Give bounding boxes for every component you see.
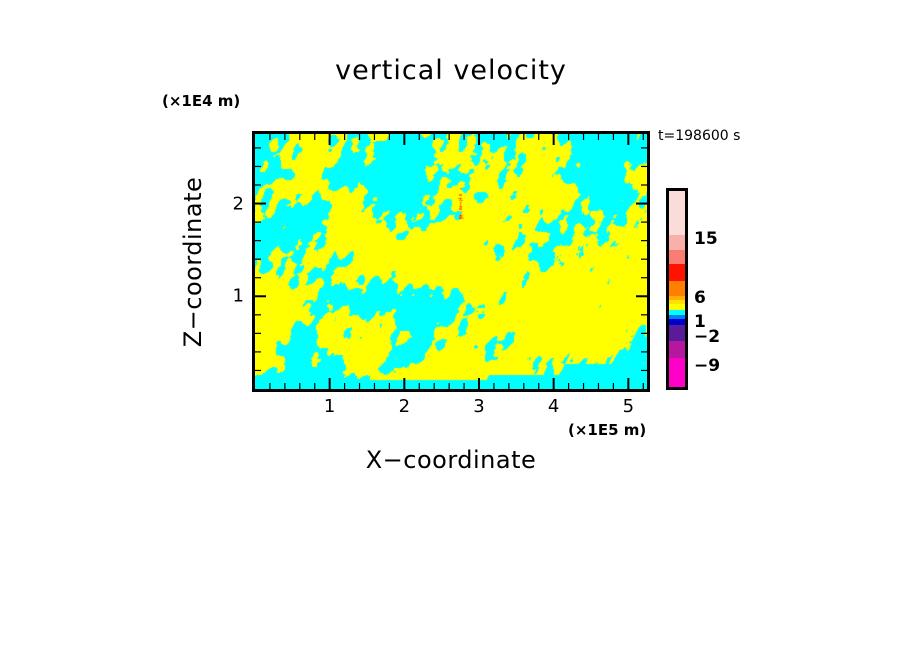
colorbar-label: −9 xyxy=(694,356,720,376)
x-tick-label: 4 xyxy=(548,396,559,417)
page-title: vertical velocity xyxy=(252,55,650,86)
colorbar-band xyxy=(669,341,685,358)
colorbar-label: 15 xyxy=(694,229,718,249)
x-tick-label: 3 xyxy=(473,396,484,417)
figure-canvas: vertical velocity (×1E4 m) t=198600 s 12… xyxy=(0,0,904,654)
colorbar-band xyxy=(669,325,685,342)
x-tick-label: 1 xyxy=(324,396,335,417)
colorbar-band xyxy=(669,358,685,387)
colorbar-band xyxy=(669,250,685,265)
time-annotation: t=198600 s xyxy=(658,128,740,144)
y-axis-unit-label: (×1E4 m) xyxy=(162,92,240,110)
vertical-velocity-field xyxy=(255,134,647,389)
x-tick-label: 5 xyxy=(623,396,634,417)
colorbar-band xyxy=(669,235,685,250)
y-tick-label: 2 xyxy=(233,193,244,214)
x-axis-unit-label: (×1E5 m) xyxy=(568,421,646,439)
colorbar-band xyxy=(669,281,685,296)
colorbar-label: 6 xyxy=(694,288,706,308)
x-tick-label: 2 xyxy=(399,396,410,417)
colorbar-label: −2 xyxy=(694,327,720,347)
plot-area xyxy=(252,131,650,392)
y-tick-label: 1 xyxy=(233,286,244,307)
colorbar-band xyxy=(669,191,685,235)
colorbar xyxy=(666,188,688,390)
colorbar-band xyxy=(669,264,685,281)
x-axis-title: X−coordinate xyxy=(252,446,650,474)
y-axis-title: Z−coordinate xyxy=(179,177,207,348)
